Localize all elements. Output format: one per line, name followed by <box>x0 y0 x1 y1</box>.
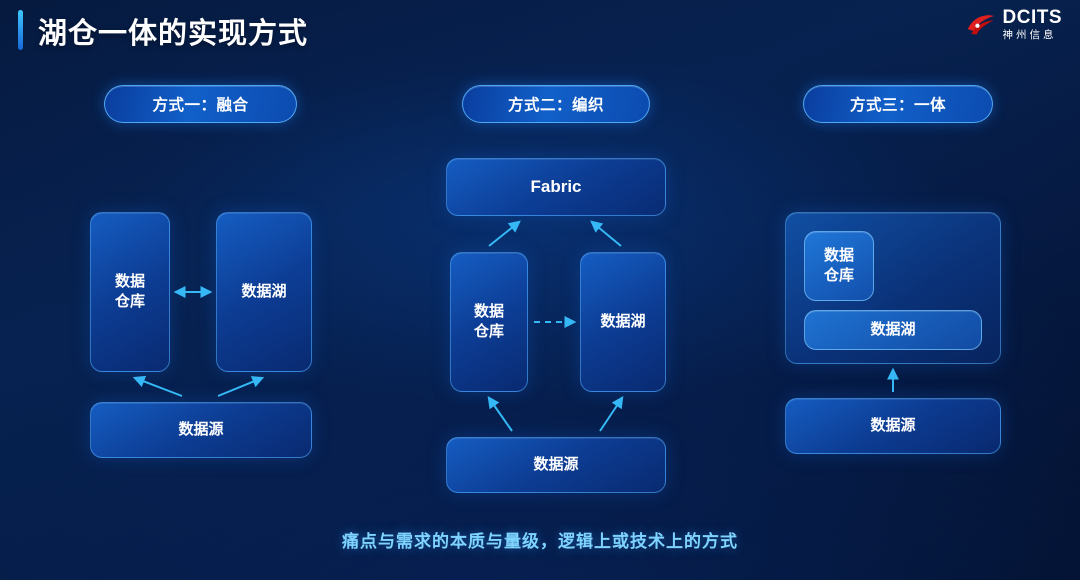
col3-data-source-box[interactable]: 数据源 <box>785 398 1001 454</box>
arrow-col1-source-wh <box>135 378 182 396</box>
col2-data-lake-label: 数据湖 <box>600 312 645 332</box>
slide-canvas: 湖仓一体的实现方式 DCITS 神州信息 方式一：融合 数据 仓库 数据湖 数据… <box>0 0 1080 580</box>
pill-method-one[interactable]: 方式一：融合 <box>104 85 297 123</box>
arrow-col1-source-lake <box>218 378 262 396</box>
dcits-swoosh-logo-icon <box>966 11 996 37</box>
col2-data-warehouse-label: 数据 仓库 <box>474 302 504 343</box>
col1-data-source-box[interactable]: 数据源 <box>90 402 312 458</box>
title-accent-bar <box>18 10 23 50</box>
col3-data-lake-box[interactable]: 数据湖 <box>804 310 982 350</box>
logo-text-cn: 神州信息 <box>1003 30 1063 41</box>
col1-data-source-label: 数据源 <box>178 420 223 440</box>
col1-data-lake-box[interactable]: 数据湖 <box>216 212 312 372</box>
arrow-col2-wh-fabric <box>489 222 519 246</box>
pill-method-three[interactable]: 方式三：一体 <box>803 85 993 123</box>
col2-data-warehouse-box[interactable]: 数据 仓库 <box>450 252 528 392</box>
col3-data-lake-label: 数据湖 <box>870 320 915 340</box>
col1-data-warehouse-box[interactable]: 数据 仓库 <box>90 212 170 372</box>
footer-note: 痛点与需求的本质与量级，逻辑上或技术上的方式 <box>0 527 1080 552</box>
arrow-col2-lake-fabric <box>592 222 621 246</box>
col3-data-warehouse-box[interactable]: 数据 仓库 <box>804 231 874 301</box>
arrow-col2-source-wh <box>489 398 512 431</box>
col1-data-lake-label: 数据湖 <box>241 282 286 302</box>
col2-data-source-label: 数据源 <box>533 455 578 475</box>
pill-method-two[interactable]: 方式二：编织 <box>462 85 650 123</box>
page-title: 湖仓一体的实现方式 <box>38 10 308 52</box>
arrow-col2-source-lake <box>600 398 622 431</box>
col2-fabric-box[interactable]: Fabric <box>446 158 666 216</box>
col2-data-source-box[interactable]: 数据源 <box>446 437 666 493</box>
col3-data-warehouse-label: 数据 仓库 <box>824 246 854 287</box>
col2-data-lake-box[interactable]: 数据湖 <box>580 252 666 392</box>
col2-fabric-label: Fabric <box>530 176 581 199</box>
logo-text-en: DCITS <box>1003 8 1063 28</box>
col1-data-warehouse-label: 数据 仓库 <box>115 272 145 313</box>
col3-data-source-label: 数据源 <box>870 416 915 436</box>
brand-logo: DCITS 神州信息 <box>966 8 1063 41</box>
